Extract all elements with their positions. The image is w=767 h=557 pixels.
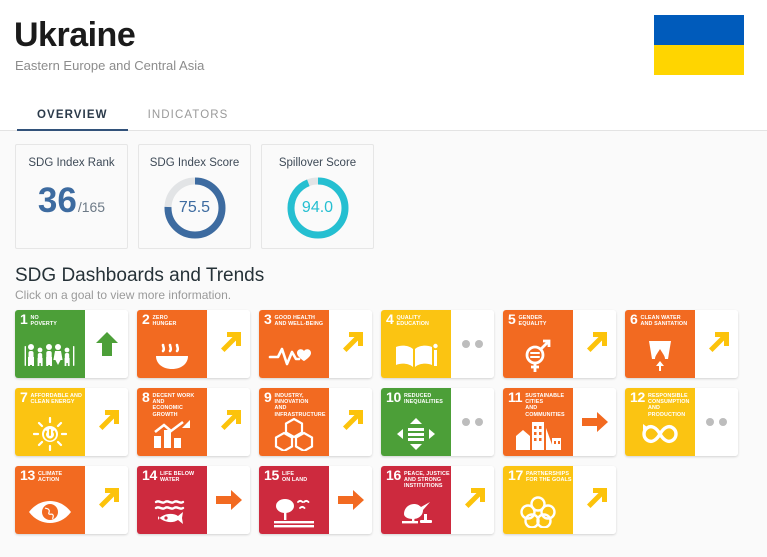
goal-heading: 3GOOD HEALTH AND WELL-BEING bbox=[264, 314, 329, 327]
goal-badge: 7AFFORDABLE AND CLEAN ENERGY bbox=[15, 388, 85, 456]
goal-trend-15 bbox=[329, 466, 372, 534]
sdg-index-score-value: 75.5 bbox=[162, 175, 228, 241]
goal-label: AFFORDABLE AND CLEAN ENERGY bbox=[31, 392, 83, 405]
section-title: SDG Dashboards and Trends bbox=[15, 265, 767, 287]
sdg-14-icon bbox=[137, 492, 207, 532]
goal-number: 3 bbox=[264, 314, 272, 325]
goal-trend-1 bbox=[85, 310, 128, 378]
goal-number: 16 bbox=[386, 470, 401, 481]
goal-heading: 10REDUCED INEQUALITIES bbox=[386, 392, 451, 405]
goal-heading: 17PARTNERSHIPS FOR THE GOALS bbox=[508, 470, 573, 483]
goal-number: 17 bbox=[508, 470, 523, 481]
section-subtitle: Click on a goal to view more information… bbox=[15, 288, 767, 302]
dot bbox=[475, 340, 483, 348]
sdg-goal-tile-2[interactable]: 2ZERO HUNGER bbox=[137, 310, 250, 378]
goal-badge: 5GENDER EQUALITY bbox=[503, 310, 573, 378]
goal-number: 7 bbox=[20, 392, 28, 403]
goal-label: ZERO HUNGER bbox=[153, 314, 177, 327]
sdg-goal-tile-4[interactable]: 4QUALITY EDUCATION bbox=[381, 310, 494, 378]
goal-label: CLEAN WATER AND SANITATION bbox=[641, 314, 688, 327]
goal-label: GENDER EQUALITY bbox=[519, 314, 547, 327]
sdg-goal-tile-3[interactable]: 3GOOD HEALTH AND WELL-BEING bbox=[259, 310, 372, 378]
sdg-goal-tile-9[interactable]: 9INDUSTRY, INNOVATION AND INFRASTRUCTURE bbox=[259, 388, 372, 456]
goal-label: PARTNERSHIPS FOR THE GOALS bbox=[526, 470, 572, 483]
country-flag bbox=[654, 15, 744, 75]
goal-trend-16 bbox=[451, 466, 494, 534]
goal-label: CLIMATE ACTION bbox=[38, 470, 62, 483]
sdg-4-icon bbox=[381, 336, 451, 376]
goal-badge: 17PARTNERSHIPS FOR THE GOALS bbox=[503, 466, 573, 534]
goal-label: NO POVERTY bbox=[31, 314, 57, 327]
dot bbox=[706, 418, 714, 426]
goal-badge: 14LIFE BELOW WATER bbox=[137, 466, 207, 534]
goal-number: 15 bbox=[264, 470, 279, 481]
goal-trend-9 bbox=[329, 388, 372, 456]
score-cards: SDG Index Rank 36 /165 SDG Index Score 7… bbox=[0, 131, 767, 249]
goal-number: 9 bbox=[264, 392, 272, 403]
goal-trend-5 bbox=[573, 310, 616, 378]
sdg-dashboard-section: SDG Dashboards and Trends Click on a goa… bbox=[0, 249, 767, 534]
sdg-12-icon bbox=[625, 414, 695, 454]
goal-label: QUALITY EDUCATION bbox=[397, 314, 430, 327]
goal-trend-14 bbox=[207, 466, 250, 534]
goal-number: 4 bbox=[386, 314, 394, 325]
sdg-16-icon bbox=[381, 492, 451, 532]
trend-no-data-dots bbox=[462, 418, 483, 426]
dot bbox=[475, 418, 483, 426]
sdg-goal-tile-8[interactable]: 8DECENT WORK AND ECONOMIC GROWTH bbox=[137, 388, 250, 456]
goal-heading: 7AFFORDABLE AND CLEAN ENERGY bbox=[20, 392, 85, 405]
country-profile-page: Ukraine Eastern Europe and Central Asia … bbox=[0, 0, 767, 557]
goal-trend-7 bbox=[85, 388, 128, 456]
goal-number: 10 bbox=[386, 392, 401, 403]
trend-no-data-dots bbox=[462, 340, 483, 348]
card-title: SDG Index Score bbox=[150, 157, 239, 169]
goal-number: 14 bbox=[142, 470, 157, 481]
sdg-3-icon bbox=[259, 336, 329, 376]
sdg-goal-tile-1[interactable]: 1NO POVERTY bbox=[15, 310, 128, 378]
sdg-9-icon bbox=[259, 414, 329, 454]
goal-number: 11 bbox=[508, 392, 522, 403]
sdg-11-icon bbox=[503, 414, 573, 454]
goal-number: 1 bbox=[20, 314, 28, 325]
goal-badge: 4QUALITY EDUCATION bbox=[381, 310, 451, 378]
sdg-goal-tile-12[interactable]: 12RESPONSIBLE CONSUMPTION AND PRODUCTION bbox=[625, 388, 738, 456]
goal-badge: 13CLIMATE ACTION bbox=[15, 466, 85, 534]
goal-badge: 3GOOD HEALTH AND WELL-BEING bbox=[259, 310, 329, 378]
goal-number: 12 bbox=[630, 392, 645, 403]
sdg-index-rank-card: SDG Index Rank 36 /165 bbox=[15, 144, 128, 249]
sdg-goal-tile-14[interactable]: 14LIFE BELOW WATER bbox=[137, 466, 250, 534]
goal-label: GOOD HEALTH AND WELL-BEING bbox=[275, 314, 324, 327]
flag-stripe-top bbox=[654, 15, 744, 45]
goal-heading: 1NO POVERTY bbox=[20, 314, 85, 327]
goal-trend-11 bbox=[573, 388, 616, 456]
goal-badge: 15LIFE ON LAND bbox=[259, 466, 329, 534]
sdg-goal-tile-10[interactable]: 10REDUCED INEQUALITIES bbox=[381, 388, 494, 456]
goal-heading: 15LIFE ON LAND bbox=[264, 470, 329, 483]
goal-heading: 2ZERO HUNGER bbox=[142, 314, 207, 327]
goal-trend-2 bbox=[207, 310, 250, 378]
trend-no-data-dots bbox=[706, 418, 727, 426]
goal-trend-17 bbox=[573, 466, 616, 534]
sdg-5-icon bbox=[503, 336, 573, 376]
goal-badge: 10REDUCED INEQUALITIES bbox=[381, 388, 451, 456]
sdg-17-icon bbox=[503, 492, 573, 532]
sdg-1-icon bbox=[15, 336, 85, 376]
tab-bar: OVERVIEW INDICATORS bbox=[0, 99, 767, 131]
goal-label: LIFE ON LAND bbox=[282, 470, 307, 483]
goal-badge: 2ZERO HUNGER bbox=[137, 310, 207, 378]
tab-overview[interactable]: OVERVIEW bbox=[17, 109, 128, 130]
goal-number: 8 bbox=[142, 392, 150, 403]
sdg-15-icon bbox=[259, 492, 329, 532]
goal-heading: 4QUALITY EDUCATION bbox=[386, 314, 451, 327]
sdg-2-icon bbox=[137, 336, 207, 376]
dot bbox=[462, 418, 470, 426]
goal-trend-6 bbox=[695, 310, 738, 378]
sdg-goal-grid: 1NO POVERTY 2ZERO HUNGER 3GOOD HEALTH AN… bbox=[15, 310, 767, 534]
sdg-10-icon bbox=[381, 414, 451, 454]
goal-trend-4 bbox=[451, 310, 494, 378]
spillover-score-card: Spillover Score 94.0 bbox=[261, 144, 374, 249]
goal-label: LIFE BELOW WATER bbox=[160, 470, 194, 483]
sdg-goal-tile-6[interactable]: 6CLEAN WATER AND SANITATION bbox=[625, 310, 738, 378]
goal-trend-12 bbox=[695, 388, 738, 456]
dot bbox=[462, 340, 470, 348]
goal-trend-3 bbox=[329, 310, 372, 378]
goal-label: REDUCED INEQUALITIES bbox=[404, 392, 443, 405]
goal-heading: 13CLIMATE ACTION bbox=[20, 470, 85, 483]
goal-badge: 1NO POVERTY bbox=[15, 310, 85, 378]
rank-value-wrap: 36 /165 bbox=[38, 183, 105, 218]
sdg-goal-tile-17[interactable]: 17PARTNERSHIPS FOR THE GOALS bbox=[503, 466, 616, 534]
flag-stripe-bottom bbox=[654, 45, 744, 75]
spillover-score-ring: 94.0 bbox=[285, 175, 351, 241]
goal-trend-13 bbox=[85, 466, 128, 534]
goal-number: 5 bbox=[508, 314, 516, 325]
sdg-goal-tile-5[interactable]: 5GENDER EQUALITY bbox=[503, 310, 616, 378]
goal-badge: 9INDUSTRY, INNOVATION AND INFRASTRUCTURE bbox=[259, 388, 329, 456]
sdg-goal-tile-7[interactable]: 7AFFORDABLE AND CLEAN ENERGY bbox=[15, 388, 128, 456]
goal-number: 2 bbox=[142, 314, 150, 325]
goal-heading: 16PEACE, JUSTICE AND STRONG INSTITUTIONS bbox=[386, 470, 451, 490]
page-header: Ukraine Eastern Europe and Central Asia … bbox=[0, 0, 767, 131]
sdg-goal-tile-16[interactable]: 16PEACE, JUSTICE AND STRONG INSTITUTIONS bbox=[381, 466, 494, 534]
card-title: SDG Index Rank bbox=[28, 157, 114, 169]
goal-badge: 8DECENT WORK AND ECONOMIC GROWTH bbox=[137, 388, 207, 456]
rank-total: /165 bbox=[78, 199, 105, 215]
sdg-goal-tile-11[interactable]: 11SUSTAINABLE CITIES AND COMMUNITIES bbox=[503, 388, 616, 456]
goal-badge: 11SUSTAINABLE CITIES AND COMMUNITIES bbox=[503, 388, 573, 456]
tab-indicators[interactable]: INDICATORS bbox=[128, 109, 249, 130]
rank-value: 36 bbox=[38, 183, 77, 218]
sdg-index-score-card: SDG Index Score 75.5 bbox=[138, 144, 251, 249]
goal-heading: 5GENDER EQUALITY bbox=[508, 314, 573, 327]
goal-number: 13 bbox=[20, 470, 35, 481]
sdg-6-icon bbox=[625, 336, 695, 376]
spillover-score-value: 94.0 bbox=[285, 175, 351, 241]
goal-number: 6 bbox=[630, 314, 638, 325]
goal-badge: 12RESPONSIBLE CONSUMPTION AND PRODUCTION bbox=[625, 388, 695, 456]
dot bbox=[719, 418, 727, 426]
sdg-8-icon bbox=[137, 414, 207, 454]
sdg-goal-tile-13[interactable]: 13CLIMATE ACTION bbox=[15, 466, 128, 534]
goal-trend-8 bbox=[207, 388, 250, 456]
sdg-goal-tile-15[interactable]: 15LIFE ON LAND bbox=[259, 466, 372, 534]
goal-badge: 16PEACE, JUSTICE AND STRONG INSTITUTIONS bbox=[381, 466, 451, 534]
goal-heading: 14LIFE BELOW WATER bbox=[142, 470, 207, 483]
sdg-13-icon bbox=[15, 492, 85, 532]
card-title: Spillover Score bbox=[279, 157, 356, 169]
goal-label: PEACE, JUSTICE AND STRONG INSTITUTIONS bbox=[404, 470, 450, 490]
goal-trend-10 bbox=[451, 388, 494, 456]
goal-badge: 6CLEAN WATER AND SANITATION bbox=[625, 310, 695, 378]
sdg-7-icon bbox=[15, 414, 85, 454]
sdg-index-score-ring: 75.5 bbox=[162, 175, 228, 241]
goal-heading: 6CLEAN WATER AND SANITATION bbox=[630, 314, 695, 327]
